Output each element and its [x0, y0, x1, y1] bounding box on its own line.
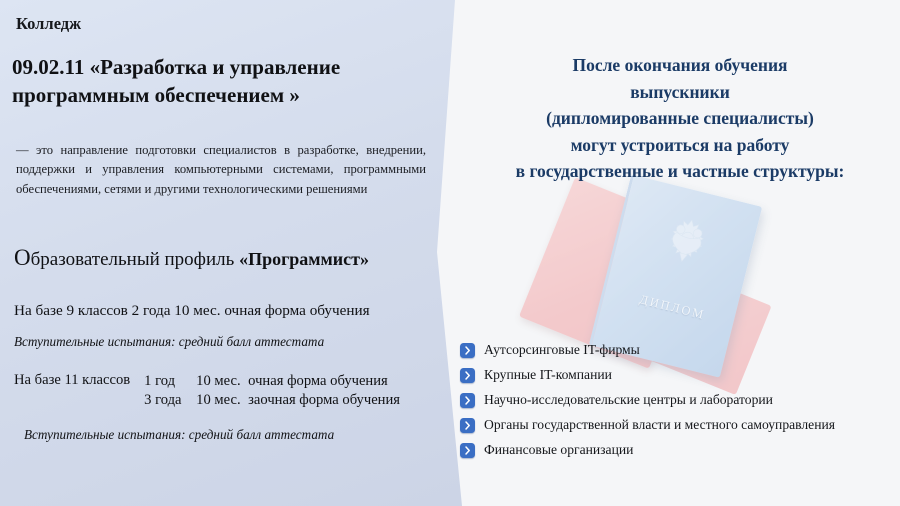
right-column: После окончания обучения выпускники (дип… — [460, 0, 900, 506]
exam-note-1: Вступительные испытания: средний балл ат… — [14, 334, 444, 350]
list-item-label: Аутсорсинговые IT-фирмы — [484, 342, 640, 358]
study-duration: 1 год — [144, 372, 196, 391]
study-months: 10 мес. — [196, 391, 248, 410]
study-form: заочная форма обучения — [248, 391, 400, 410]
list-item-label: Финансовые организации — [484, 442, 633, 458]
chevron-right-icon — [460, 418, 475, 433]
employment-heading: После окончания обучения выпускники (дип… — [460, 52, 900, 185]
heading-line: (дипломированные специалисты) — [460, 105, 900, 132]
chevron-right-icon — [460, 368, 475, 383]
list-item: Аутсорсинговые IT-фирмы — [460, 338, 900, 362]
left-column: Колледж 09.02.11 «Разработка и управлени… — [0, 0, 460, 506]
chevron-right-icon — [460, 393, 475, 408]
base-9-classes-line: На базе 9 классов 2 года 10 мес. очная ф… — [14, 302, 444, 320]
list-item: Крупные IT-компании — [460, 363, 900, 387]
program-title: 09.02.11 «Разработка и управление програ… — [12, 54, 422, 110]
chevron-right-icon — [460, 443, 475, 458]
study-form: очная форма обучения — [248, 372, 388, 391]
base-11-lead: На базе 11 классов — [14, 372, 144, 389]
heading-line: в государственные и частные структуры: — [460, 158, 900, 185]
heading-line: выпускники — [460, 79, 900, 106]
base-11-classes-block: На базе 11 классов 1 год 10 мес. очная ф… — [14, 372, 454, 409]
list-item-label: Научно-исследовательские центры и лабора… — [484, 392, 773, 408]
chevron-right-icon — [460, 343, 475, 358]
profile-label-rest: бразовательный профиль — [31, 249, 239, 270]
study-duration: 3 года — [144, 391, 196, 410]
study-form-row: 1 год 10 мес. очная форма обучения — [144, 372, 400, 391]
list-item-label: Органы государственной власти и местного… — [484, 417, 835, 433]
study-form-row: 3 года 10 мес. заочная форма обучения — [144, 391, 400, 410]
heading-line: После окончания обучения — [460, 52, 900, 79]
program-description: — это направление подготовки специалисто… — [16, 141, 426, 199]
base-11-forms: 1 год 10 мес. очная форма обучения 3 год… — [144, 372, 400, 409]
list-item: Финансовые организации — [460, 438, 900, 462]
heading-line: могут устроиться на работу — [460, 132, 900, 159]
study-months: 10 мес. — [196, 372, 248, 391]
profile-dropcap: О — [14, 245, 31, 270]
employers-list: Аутсорсинговые IT-фирмы Крупные IT-компа… — [460, 338, 900, 463]
slide: ДИПЛОМ Колледж 09.02.11 «Разработка и уп… — [0, 0, 900, 506]
exam-note-2: Вступительные испытания: средний балл ат… — [24, 427, 454, 443]
list-item-label: Крупные IT-компании — [484, 367, 612, 383]
college-label: Колледж — [16, 14, 81, 34]
profile-name: «Программист» — [239, 249, 369, 269]
list-item: Научно-исследовательские центры и лабора… — [460, 388, 900, 412]
list-item: Органы государственной власти и местного… — [460, 413, 900, 437]
educational-profile-line: Образовательный профиль «Программист» — [14, 245, 444, 271]
